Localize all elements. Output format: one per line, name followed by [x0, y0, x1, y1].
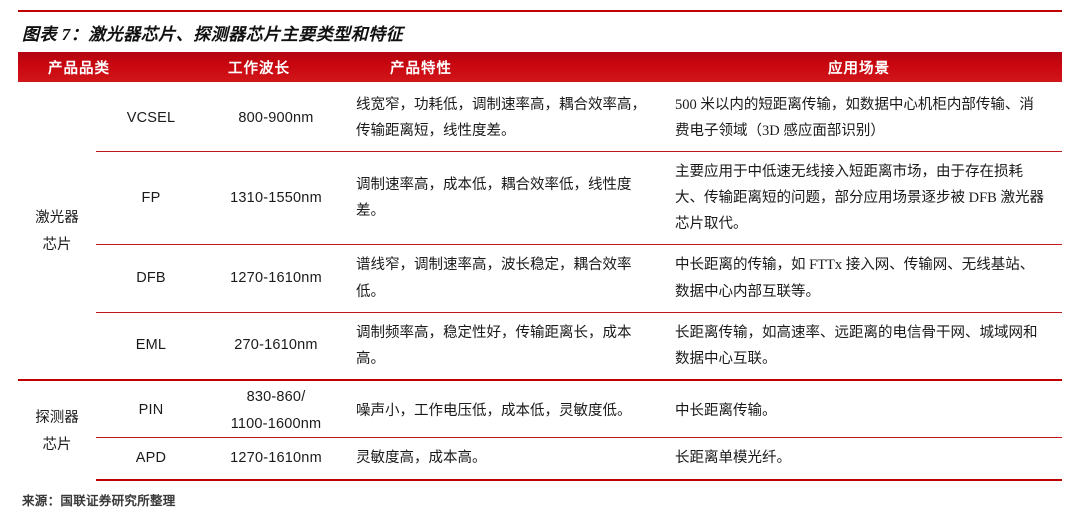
table-row: EML 270-1610nm 调制频率高，稳定性好，传输距离长，成本高。 长距离…	[18, 313, 1062, 379]
cell-wavelength-fp: 1310-1550nm	[206, 152, 346, 244]
cell-applications-vcsel: 500 米以内的短距离传输，如数据中心机柜内部传输、消费电子领域（3D 感应面部…	[661, 85, 1062, 151]
figure-title: 图表 7：激光器芯片、探测器芯片主要类型和特征	[18, 12, 1062, 52]
wavelength-line: 270-1610nm	[206, 332, 346, 359]
cell-type-dfb: DFB	[96, 245, 206, 311]
cell-wavelength-apd: 1270-1610nm	[206, 438, 346, 478]
wavelength-line: 1270-1610nm	[206, 445, 346, 472]
table-header: 产品品类 工作波长 产品特性 应用场景	[18, 52, 1062, 82]
cell-features-vcsel: 线宽窄，功耗低，调制速率高，耦合效率高，传输距离短，线性度差。	[346, 85, 661, 151]
cell-applications-eml: 长距离传输，如高速率、远距离的电信骨干网、城域网和数据中心互联。	[661, 313, 1062, 379]
figure-container: 图表 7：激光器芯片、探测器芯片主要类型和特征 产品品类 工作波长 产品特性 应…	[0, 10, 1080, 530]
header-row: 产品品类 工作波长 产品特性 应用场景	[18, 52, 1062, 82]
group-category-laser: 激光器 芯片	[18, 85, 96, 379]
cell-applications-fp: 主要应用于中低速无线接入短距离市场，由于存在损耗大、传输距离短的问题，部分应用场…	[661, 152, 1062, 244]
table-row: 激光器 芯片 VCSEL 800-900nm 线宽窄，功耗低，调制速率高，耦合效…	[18, 85, 1062, 151]
cell-type-vcsel: VCSEL	[96, 85, 206, 151]
cell-features-fp: 调制速率高，成本低，耦合效率低，线性度差。	[346, 152, 661, 244]
cell-features-apd: 灵敏度高，成本高。	[346, 438, 661, 478]
wavelength-line: 1100-1600nm	[206, 411, 346, 438]
cell-features-pin: 噪声小，工作电压低，成本低，灵敏度低。	[346, 384, 661, 438]
cell-applications-pin: 中长距离传输。	[661, 384, 1062, 438]
cell-applications-dfb: 中长距离的传输，如 FTTx 接入网、传输网、无线基站、数据中心内部互联等。	[661, 245, 1062, 311]
wavelength-line: 800-900nm	[206, 105, 346, 132]
cell-type-fp: FP	[96, 152, 206, 244]
cell-type-pin: PIN	[96, 384, 206, 438]
table-row: FP 1310-1550nm 调制速率高，成本低，耦合效率低，线性度差。 主要应…	[18, 152, 1062, 244]
group-category-laser-line2: 芯片	[22, 232, 92, 259]
group-category-detector: 探测器 芯片	[18, 384, 96, 481]
wavelength-line: 1270-1610nm	[206, 265, 346, 292]
table-row: APD 1270-1610nm 灵敏度高，成本高。 长距离单模光纤。	[18, 438, 1062, 478]
column-header-applications: 应用场景	[661, 52, 1062, 82]
group-category-detector-line1: 探测器	[22, 405, 92, 432]
cell-type-apd: APD	[96, 438, 206, 478]
cell-type-eml: EML	[96, 313, 206, 379]
source-note: 来源：国联证券研究所整理	[18, 481, 1062, 509]
group-category-detector-line2: 芯片	[22, 432, 92, 459]
table-body: 激光器 芯片 VCSEL 800-900nm 线宽窄，功耗低，调制速率高，耦合效…	[18, 82, 1062, 481]
cell-features-dfb: 谱线窄，调制速率高，波长稳定，耦合效率低。	[346, 245, 661, 311]
cell-wavelength-pin: 830-860/ 1100-1600nm	[206, 384, 346, 438]
column-header-wavelength: 工作波长	[206, 52, 346, 82]
table-row: 探测器 芯片 PIN 830-860/ 1100-1600nm 噪声小，工作电压…	[18, 384, 1062, 438]
cell-applications-apd: 长距离单模光纤。	[661, 438, 1062, 478]
cell-wavelength-vcsel: 800-900nm	[206, 85, 346, 151]
column-header-features: 产品特性	[346, 52, 661, 82]
cell-features-eml: 调制频率高，稳定性好，传输距离长，成本高。	[346, 313, 661, 379]
cell-wavelength-eml: 270-1610nm	[206, 313, 346, 379]
wavelength-line: 830-860/	[206, 384, 346, 411]
column-header-category: 产品品类	[18, 52, 206, 82]
table-row: DFB 1270-1610nm 谱线窄，调制速率高，波长稳定，耦合效率低。 中长…	[18, 245, 1062, 311]
wavelength-line: 1310-1550nm	[206, 185, 346, 212]
cell-wavelength-dfb: 1270-1610nm	[206, 245, 346, 311]
group-category-laser-line1: 激光器	[22, 205, 92, 232]
chip-comparison-table: 产品品类 工作波长 产品特性 应用场景 激光器 芯片 VCSEL 800-900…	[18, 52, 1062, 481]
